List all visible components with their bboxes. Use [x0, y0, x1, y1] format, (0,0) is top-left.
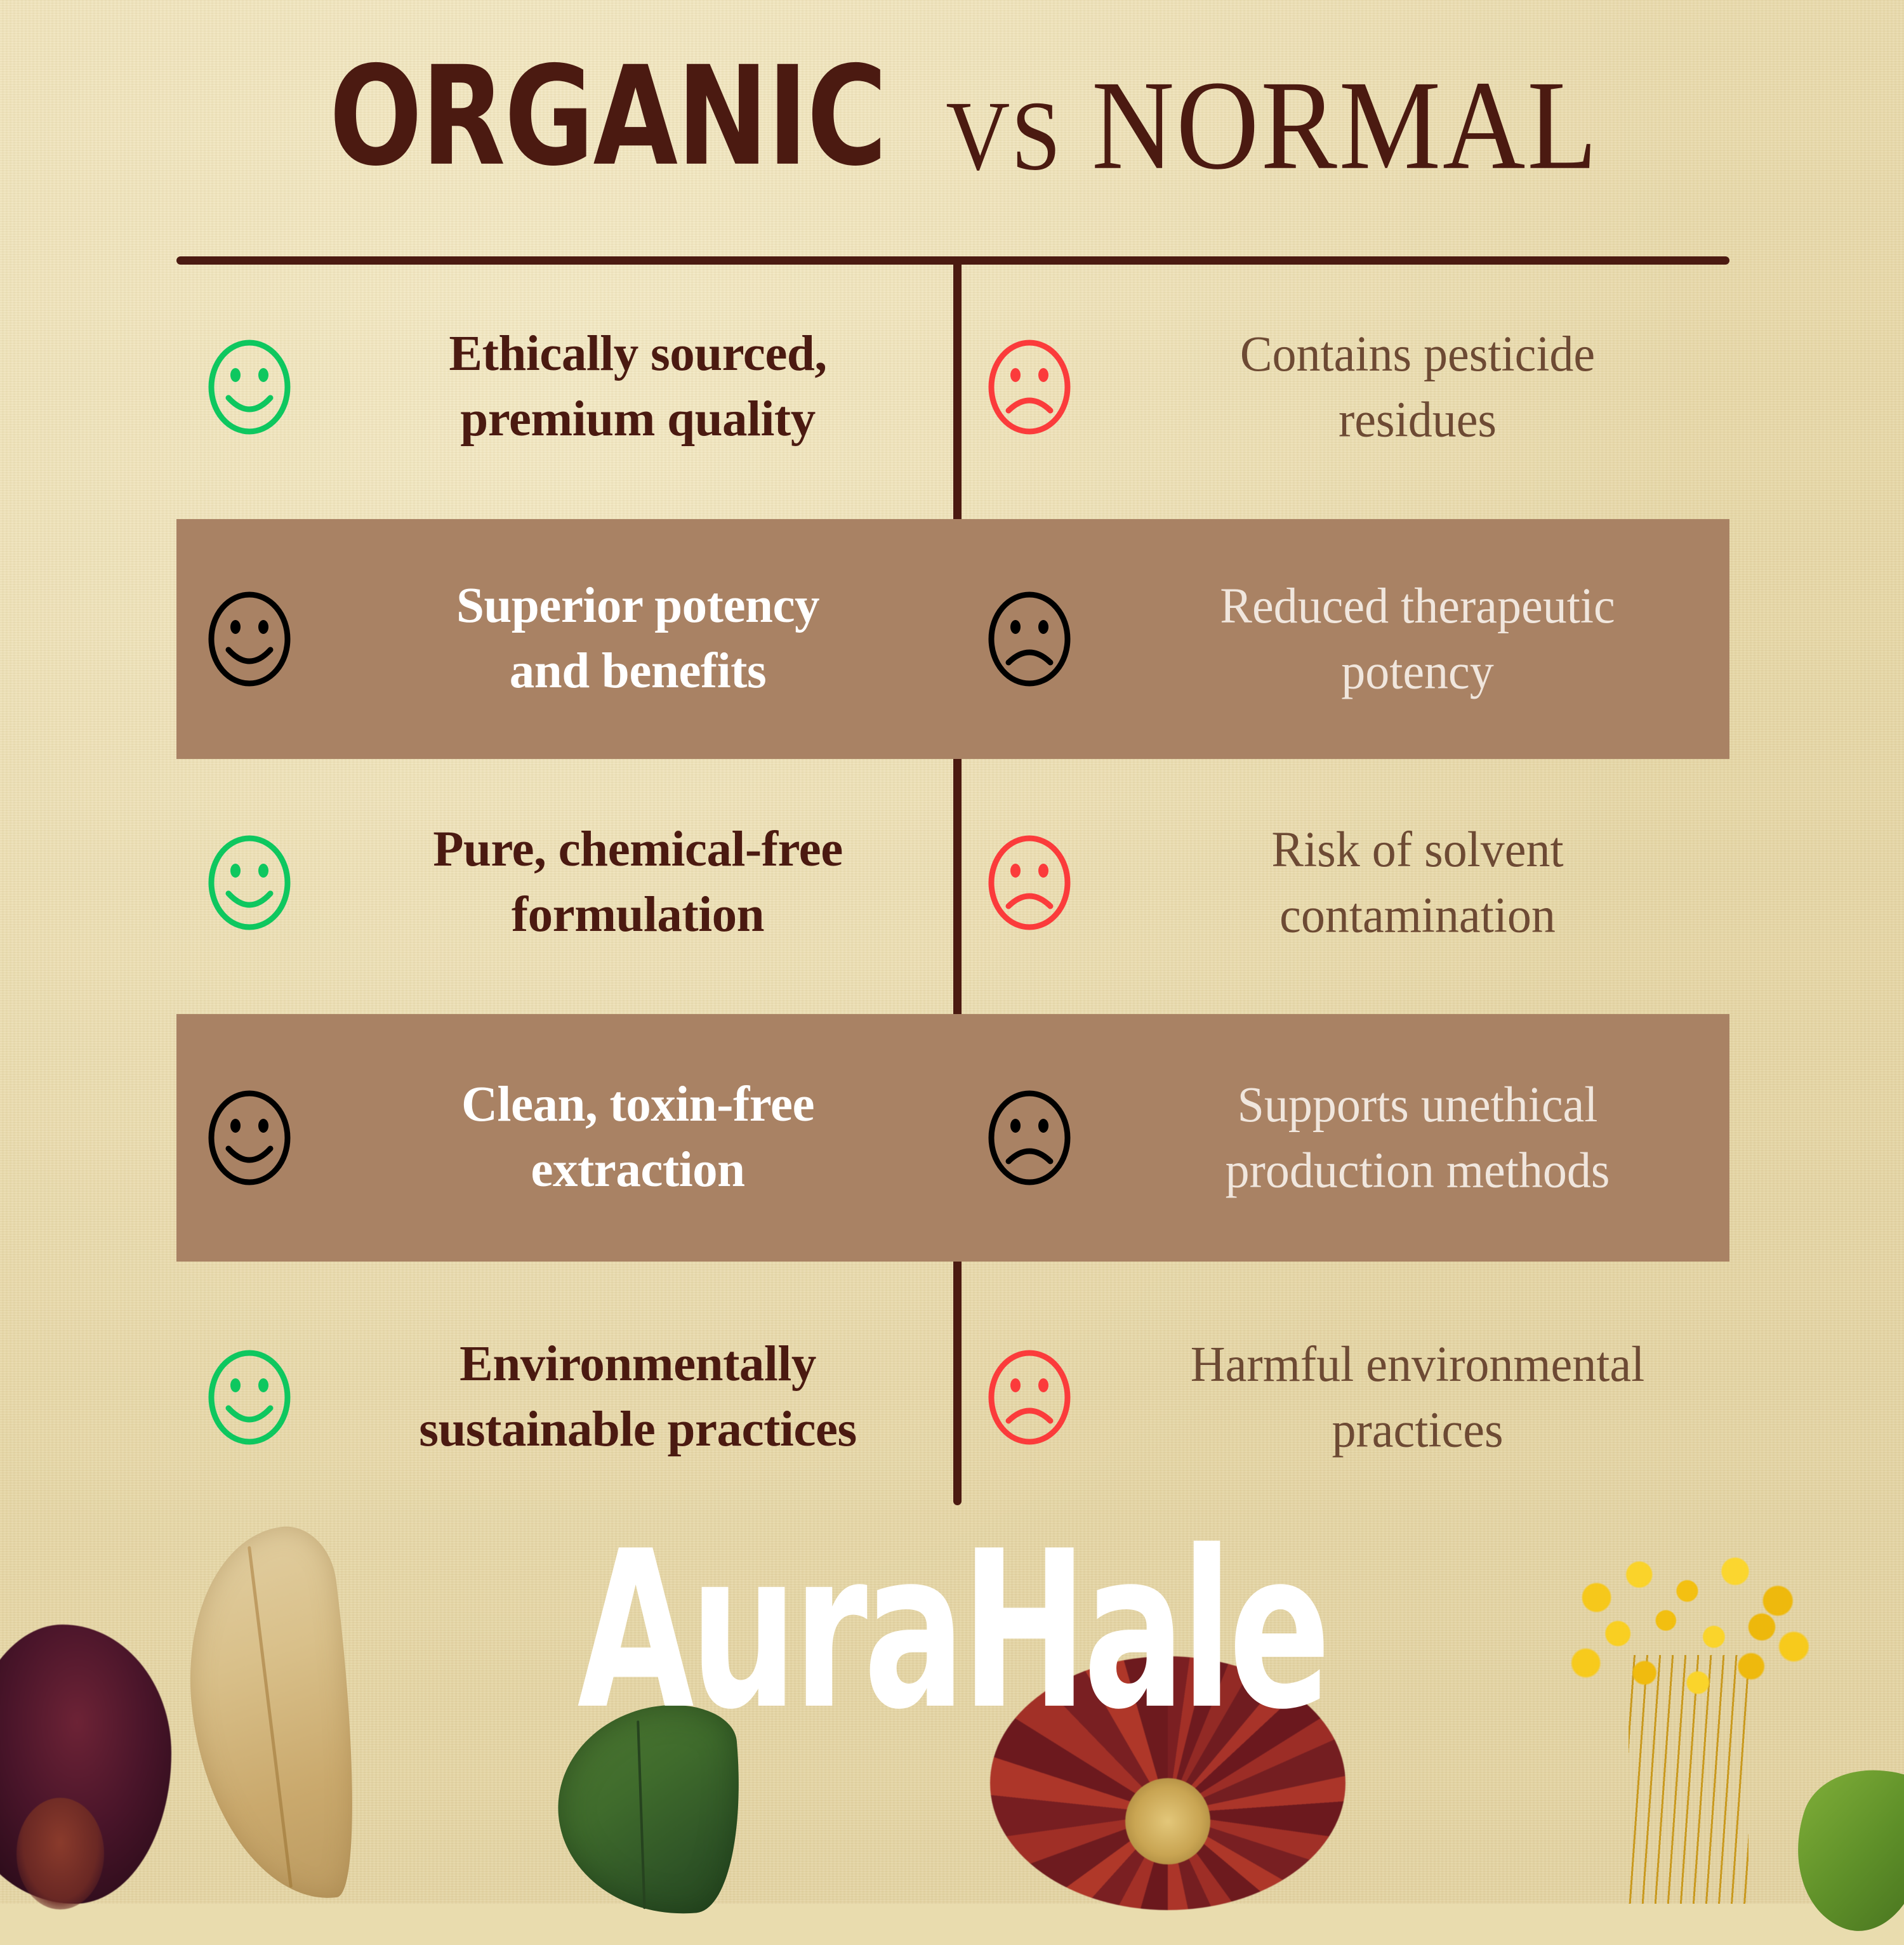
green-leaf-edge-decoration: [1774, 1748, 1904, 1944]
text-line: practices: [1106, 1397, 1729, 1463]
table-row: Environmentallysustainable practicesHarm…: [176, 1279, 1729, 1515]
comparison-table: Ethically sourced,premium qualityContain…: [176, 273, 1729, 1517]
normal-drawback-text: Risk of solventcontamination: [1106, 817, 1729, 948]
text-line: Ethically sourced,: [322, 322, 953, 387]
normal-cell: Harmful environmentalpractices: [953, 1279, 1729, 1515]
text-line: residues: [1106, 387, 1729, 453]
normal-cell: Contains pesticideresidues: [953, 273, 1729, 501]
organic-benefit-text: Pure, chemical-freeformulation: [322, 817, 953, 947]
dried-rose-bud-decoration: [0, 1625, 171, 1904]
organic-benefit-text: Superior potencyand benefits: [322, 574, 953, 704]
text-line: sustainable practices: [322, 1397, 953, 1463]
normal-drawback-text: Harmful environmentalpractices: [1106, 1331, 1729, 1463]
text-line: Supports unethical: [1106, 1072, 1729, 1138]
organic-cell: Ethically sourced,premium quality: [176, 273, 953, 501]
table-row: Pure, chemical-freeformulationRisk of so…: [176, 768, 1729, 998]
frowny-face-icon: [953, 829, 1106, 937]
text-line: Pure, chemical-free: [322, 817, 953, 883]
text-line: premium quality: [322, 387, 953, 452]
frowny-face-icon: [953, 1343, 1106, 1451]
text-line: Harmful environmental: [1106, 1331, 1729, 1397]
organic-cell: Environmentallysustainable practices: [176, 1279, 953, 1515]
text-line: Contains pesticide: [1106, 321, 1729, 387]
title-word-vs: VS: [946, 87, 1062, 187]
frowny-face-icon: [953, 1084, 1106, 1192]
text-line: contamination: [1106, 883, 1729, 949]
text-line: and benefits: [322, 639, 953, 704]
organic-benefit-text: Clean, toxin-freeextraction: [322, 1072, 953, 1203]
table-row: Clean, toxin-freeextractionSupports unet…: [176, 1014, 1729, 1262]
smiley-face-icon: [176, 1084, 322, 1192]
text-line: Reduced therapeutic: [1106, 573, 1729, 639]
organic-cell: Clean, toxin-freeextraction: [176, 1014, 953, 1262]
organic-cell: Superior potencyand benefits: [176, 519, 953, 759]
brand-logo: AuraHale: [171, 1523, 1733, 1740]
title-word-organic: ORGANIC: [329, 48, 886, 185]
title-word-normal: NORMAL: [1092, 62, 1599, 189]
text-line: formulation: [322, 883, 953, 948]
text-line: extraction: [322, 1138, 953, 1203]
text-line: Risk of solvent: [1106, 817, 1729, 883]
text-line: Clean, toxin-free: [322, 1072, 953, 1138]
text-line: Environmentally: [322, 1332, 953, 1397]
smiley-face-icon: [176, 1343, 322, 1451]
table-row: Ethically sourced,premium qualityContain…: [176, 273, 1729, 501]
frowny-face-icon: [953, 333, 1106, 441]
frowny-face-icon: [953, 585, 1106, 693]
text-line: potency: [1106, 639, 1729, 705]
normal-drawback-text: Contains pesticideresidues: [1106, 321, 1729, 452]
organic-cell: Pure, chemical-freeformulation: [176, 768, 953, 998]
text-line: Superior potency: [322, 574, 953, 639]
normal-cell: Reduced therapeuticpotency: [953, 519, 1729, 759]
smiley-face-icon: [176, 829, 322, 937]
normal-cell: Risk of solventcontamination: [953, 768, 1729, 998]
table-row: Superior potencyand benefitsReduced ther…: [176, 519, 1729, 759]
normal-drawback-text: Supports unethicalproduction methods: [1106, 1072, 1729, 1203]
organic-benefit-text: Ethically sourced,premium quality: [322, 322, 953, 452]
normal-drawback-text: Reduced therapeuticpotency: [1106, 573, 1729, 704]
smiley-face-icon: [176, 585, 322, 693]
page-title: ORGANICVSNORMAL: [0, 61, 1904, 186]
smiley-face-icon: [176, 333, 322, 441]
organic-benefit-text: Environmentallysustainable practices: [322, 1332, 953, 1462]
text-line: production methods: [1106, 1138, 1729, 1204]
normal-cell: Supports unethicalproduction methods: [953, 1014, 1729, 1262]
